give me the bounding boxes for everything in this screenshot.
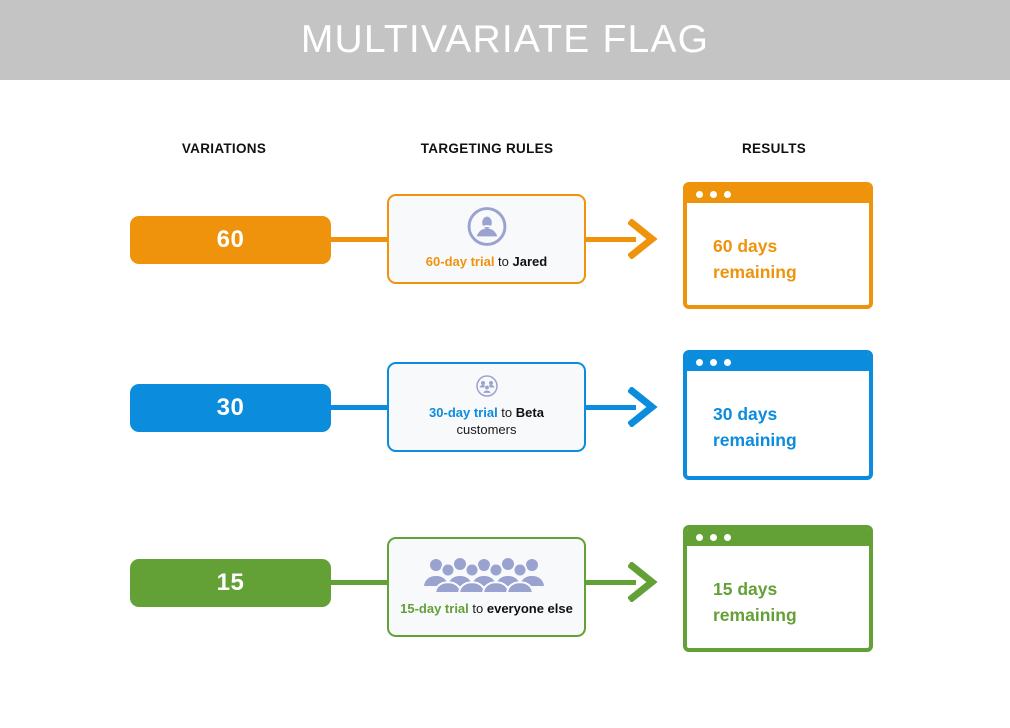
window-dot-icon [710, 359, 717, 366]
targeting-rule-card[interactable]: 30-day trial to Beta customers [387, 362, 586, 452]
result-browser-card[interactable]: 15 days remaining [683, 525, 873, 652]
result-line-2: remaining [713, 259, 869, 285]
window-dot-icon [724, 191, 731, 198]
window-dot-icon [696, 534, 703, 541]
rule-middle: to [498, 405, 516, 420]
connector-line-left [331, 580, 388, 585]
result-line-1: 60 days [713, 233, 869, 259]
rule-highlight: 15-day trial [400, 601, 469, 616]
rule-tail: Jared [513, 254, 548, 269]
window-dot-icon [696, 359, 703, 366]
rule-tail: everyone else [487, 601, 573, 616]
result-card-titlebar [687, 354, 869, 371]
result-line-1: 15 days [713, 576, 869, 602]
variation-pill[interactable]: 15 [130, 559, 331, 607]
result-card-titlebar [687, 529, 869, 546]
rule-middle: to [469, 601, 487, 616]
group-of-three-people-icon [466, 374, 508, 398]
arrow-right-icon [628, 562, 658, 602]
targeting-rule-text: 15-day trial to everyone else [400, 600, 573, 617]
targeting-rule-card[interactable]: 15-day trial to everyone else [387, 537, 586, 637]
rule-tail: Beta [516, 405, 544, 420]
variation-value: 30 [217, 394, 245, 422]
arrow-right-icon [628, 219, 658, 259]
page-title: MULTIVARIATE FLAG [301, 18, 709, 62]
window-dot-icon [710, 191, 717, 198]
rule-middle: to [494, 254, 512, 269]
infographic-page: MULTIVARIATE FLAG VARIATIONS TARGETING R… [0, 0, 1010, 728]
result-card-body: 15 days remaining [687, 546, 869, 628]
window-dot-icon [724, 534, 731, 541]
column-headings: VARIATIONS TARGETING RULES RESULTS [0, 141, 1010, 161]
targeting-rule-card[interactable]: 60-day trial to Jared [387, 194, 586, 284]
variation-pill[interactable]: 30 [130, 384, 331, 432]
variation-value: 60 [217, 226, 245, 254]
result-card-body: 30 days remaining [687, 371, 869, 453]
result-line-2: remaining [713, 427, 869, 453]
result-browser-card[interactable]: 30 days remaining [683, 350, 873, 480]
result-card-body: 60 days remaining [687, 203, 869, 285]
connector-line-left [331, 237, 388, 242]
result-line-2: remaining [713, 602, 869, 628]
variation-row: 30 30-day trial to Beta customers [0, 336, 1010, 496]
window-dot-icon [696, 191, 703, 198]
page-header: MULTIVARIATE FLAG [0, 0, 1010, 80]
arrow-right-icon [628, 387, 658, 427]
result-browser-card[interactable]: 60 days remaining [683, 182, 873, 309]
targeting-rule-text: 30-day trial to Beta customers [399, 404, 574, 438]
rule-highlight: 30-day trial [429, 405, 498, 420]
targeting-rule-text: 60-day trial to Jared [426, 253, 547, 270]
column-heading-targeting-rules: TARGETING RULES [421, 141, 554, 156]
rule-highlight: 60-day trial [426, 254, 495, 269]
column-heading-variations: VARIATIONS [182, 141, 266, 156]
crowd-of-people-icon [422, 556, 552, 594]
variation-pill[interactable]: 60 [130, 216, 331, 264]
variation-row: 15 [0, 511, 1010, 671]
result-line-1: 30 days [713, 401, 869, 427]
variation-row: 60 60-day trial to Jared [0, 168, 1010, 328]
rule-tail-normal: customers [457, 422, 517, 437]
window-dot-icon [710, 534, 717, 541]
single-person-avatar-icon [465, 206, 509, 247]
variation-value: 15 [217, 569, 245, 597]
result-card-titlebar [687, 186, 869, 203]
column-heading-results: RESULTS [742, 141, 806, 156]
connector-line-left [331, 405, 388, 410]
window-dot-icon [724, 359, 731, 366]
